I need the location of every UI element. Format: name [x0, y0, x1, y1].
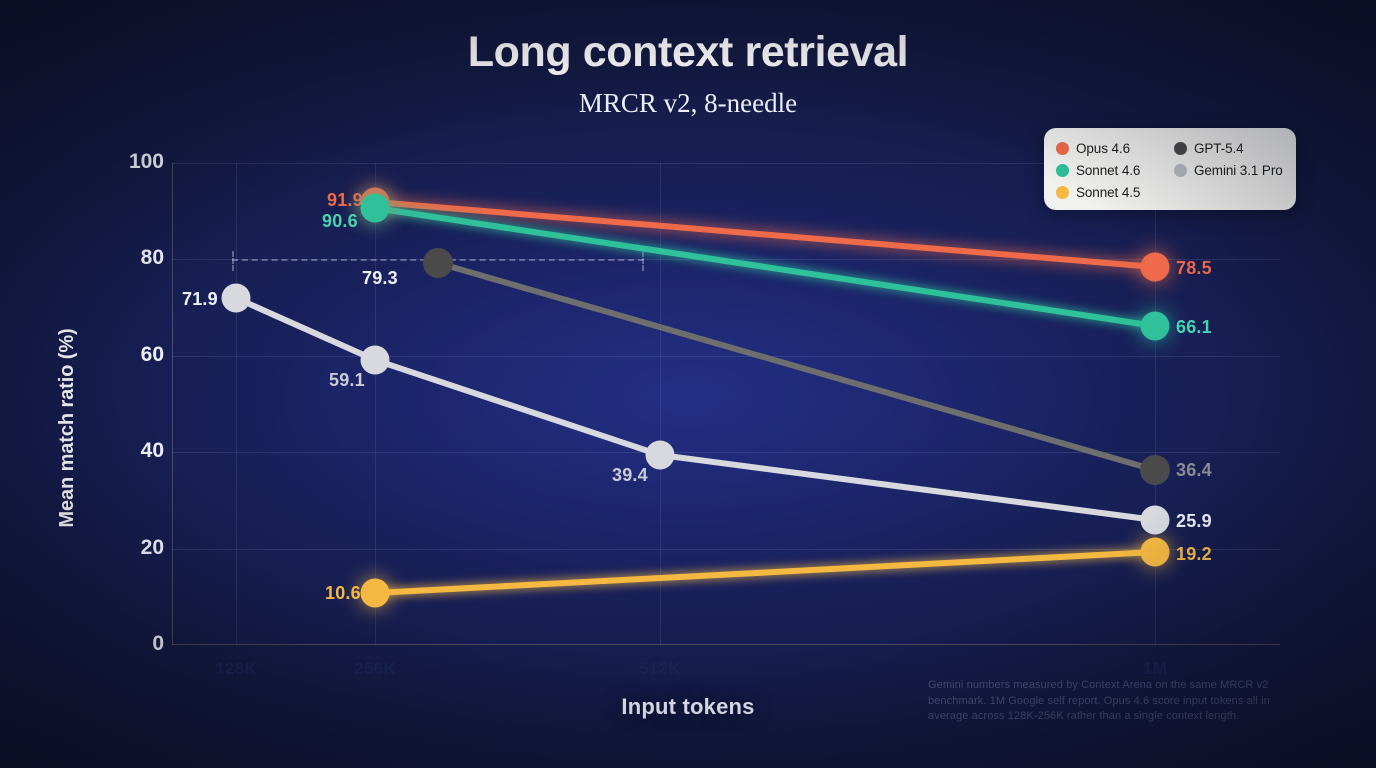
chart-legend: Opus 4.6 GPT-5.4 Sonnet 4.6 Gemini 3.1 P… — [1044, 128, 1296, 210]
point-sonnet-46-256k[interactable] — [361, 194, 390, 223]
legend-swatch-gemini-31-pro — [1174, 164, 1187, 177]
value-gemini-256k: 59.1 — [329, 370, 365, 391]
line-gpt-54 — [438, 263, 1155, 470]
chart-footnote: Gemini numbers measured by Context Arena… — [928, 678, 1296, 725]
line-sonnet-45 — [375, 552, 1155, 593]
y-tick-80: 80 — [74, 246, 164, 270]
line-gemini-31-pro — [236, 298, 1155, 520]
chart-canvas: Long context retrieval MRCR v2, 8-needle… — [0, 0, 1376, 768]
plot-area: 0 20 40 60 80 100 128K 256K 512K 1M — [172, 163, 1280, 645]
value-gemini-1m: 25.9 — [1176, 511, 1212, 532]
legend-label-sonnet-46: Sonnet 4.6 — [1076, 163, 1140, 178]
point-gpt-54-192k[interactable] — [423, 248, 453, 278]
line-opus-46 — [375, 202, 1155, 267]
legend-item-sonnet-46[interactable]: Sonnet 4.6 — [1056, 159, 1174, 181]
legend-label-gpt-54: GPT-5.4 — [1194, 141, 1244, 156]
line-sonnet-46 — [375, 208, 1155, 326]
legend-swatch-gpt-54 — [1174, 142, 1187, 155]
value-opus-46-256k: 91.9 — [327, 190, 363, 211]
point-gemini-128k[interactable] — [222, 284, 251, 313]
y-tick-0: 0 — [74, 632, 164, 656]
y-tick-40: 40 — [74, 439, 164, 463]
value-sonnet-45-1m: 19.2 — [1176, 544, 1212, 565]
legend-label-gemini-31-pro: Gemini 3.1 Pro — [1194, 163, 1283, 178]
value-sonnet-46-1m: 66.1 — [1176, 317, 1212, 338]
y-tick-60: 60 — [74, 343, 164, 367]
point-sonnet-46-1m[interactable] — [1141, 312, 1170, 341]
x-tick-512k: 512K — [600, 659, 720, 679]
value-gpt-54-1m: 36.4 — [1176, 460, 1212, 481]
value-gemini-512k: 39.4 — [612, 465, 648, 486]
value-opus-46-1m: 78.5 — [1176, 258, 1212, 279]
page-subtitle: MRCR v2, 8-needle — [0, 88, 1376, 119]
legend-label-sonnet-45: Sonnet 4.5 — [1076, 185, 1140, 200]
legend-item-opus-46[interactable]: Opus 4.6 — [1056, 137, 1174, 159]
value-sonnet-46-256k: 90.6 — [322, 211, 358, 232]
value-sonnet-45-256k: 10.6 — [325, 583, 361, 604]
point-gpt-54-1m[interactable] — [1140, 455, 1170, 485]
legend-swatch-sonnet-45 — [1056, 186, 1069, 199]
page-title: Long context retrieval — [0, 28, 1376, 77]
value-gemini-128k: 71.9 — [182, 289, 218, 310]
point-sonnet-45-1m[interactable] — [1141, 538, 1170, 567]
y-axis-label: Mean match ratio (%) — [56, 288, 79, 568]
x-tick-1m: 1M — [1095, 659, 1215, 679]
legend-item-sonnet-45[interactable]: Sonnet 4.5 — [1056, 181, 1174, 203]
series-lines — [172, 163, 1280, 645]
point-gemini-512k[interactable] — [646, 441, 675, 470]
point-sonnet-45-256k[interactable] — [361, 579, 390, 608]
y-tick-100: 100 — [74, 150, 164, 174]
legend-item-gpt-54[interactable]: GPT-5.4 — [1174, 137, 1304, 159]
point-gemini-256k[interactable] — [361, 346, 390, 375]
point-gemini-1m[interactable] — [1141, 506, 1170, 535]
legend-label-opus-46: Opus 4.6 — [1076, 141, 1130, 156]
point-opus-46-1m[interactable] — [1141, 253, 1170, 282]
value-gpt-54-192k: 79.3 — [362, 268, 398, 289]
legend-swatch-opus-46 — [1056, 142, 1069, 155]
x-tick-256k: 256K — [315, 659, 435, 679]
legend-swatch-sonnet-46 — [1056, 164, 1069, 177]
x-tick-128k: 128K — [176, 659, 296, 679]
y-tick-20: 20 — [74, 536, 164, 560]
legend-item-gemini-31-pro[interactable]: Gemini 3.1 Pro — [1174, 159, 1304, 181]
